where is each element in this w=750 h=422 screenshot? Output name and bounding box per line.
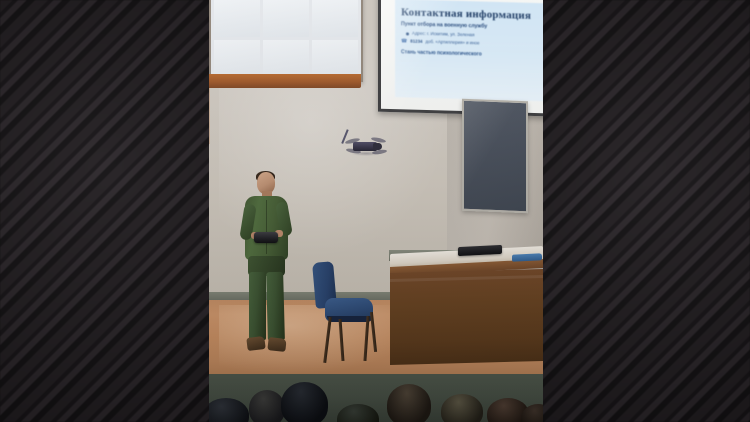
blue-chair (310, 262, 378, 362)
soldier-boot (267, 337, 286, 352)
board-panel (263, 40, 309, 78)
chair-leg (323, 317, 332, 363)
chair-leg (370, 312, 377, 352)
soldier-leg (266, 272, 285, 340)
bullet-dot-icon (406, 32, 409, 35)
slide-phone-note: доб. «Артиллерия» и иное (425, 39, 479, 47)
bulletin-board-grid (214, 0, 358, 77)
audience-head-silhouette (281, 382, 328, 422)
video-frame[interactable]: Контактная информация Пункт отбора на во… (209, 0, 543, 422)
projection-screen: Контактная информация Пункт отбора на во… (378, 0, 543, 116)
drone-camera (373, 143, 382, 150)
fpv-quadcopter-drone (337, 130, 395, 164)
phone-icon: ☎ (401, 38, 407, 45)
soldier-presenter (234, 172, 298, 362)
lectern-front-panel (390, 269, 543, 365)
bulletin-board-ledge (209, 74, 361, 88)
soldier-leg (249, 272, 266, 340)
audience-head-silhouette (387, 384, 431, 422)
chair-leg (339, 319, 345, 361)
board-panel (263, 0, 309, 37)
board-panel (214, 0, 260, 37)
slide-phone-number: 81234 (410, 39, 422, 46)
pillarbox-left (0, 0, 210, 422)
slide-footer: Стань частью психологического (401, 49, 543, 60)
wall-chalkboard (462, 99, 528, 214)
pillarbox-right (542, 0, 750, 422)
bulletin-board (209, 0, 363, 82)
audience-head-silhouette (441, 394, 483, 422)
wooden-lectern (390, 250, 543, 362)
slide-title: Контактная информация (401, 6, 543, 22)
audience-head-silhouette (249, 390, 285, 422)
board-panel (312, 40, 358, 78)
soldier-boot (246, 336, 265, 351)
slide-address-text: Адрес: г. Искитим, ул. Зеленая (412, 31, 474, 39)
screenshot-frame: Контактная информация Пункт отбора на во… (0, 0, 750, 422)
presentation-slide: Контактная информация Пункт отбора на во… (395, 0, 543, 101)
drone-remote-controller (254, 232, 278, 243)
board-panel (214, 40, 260, 78)
chair-leg (363, 316, 369, 361)
board-panel (312, 0, 358, 37)
